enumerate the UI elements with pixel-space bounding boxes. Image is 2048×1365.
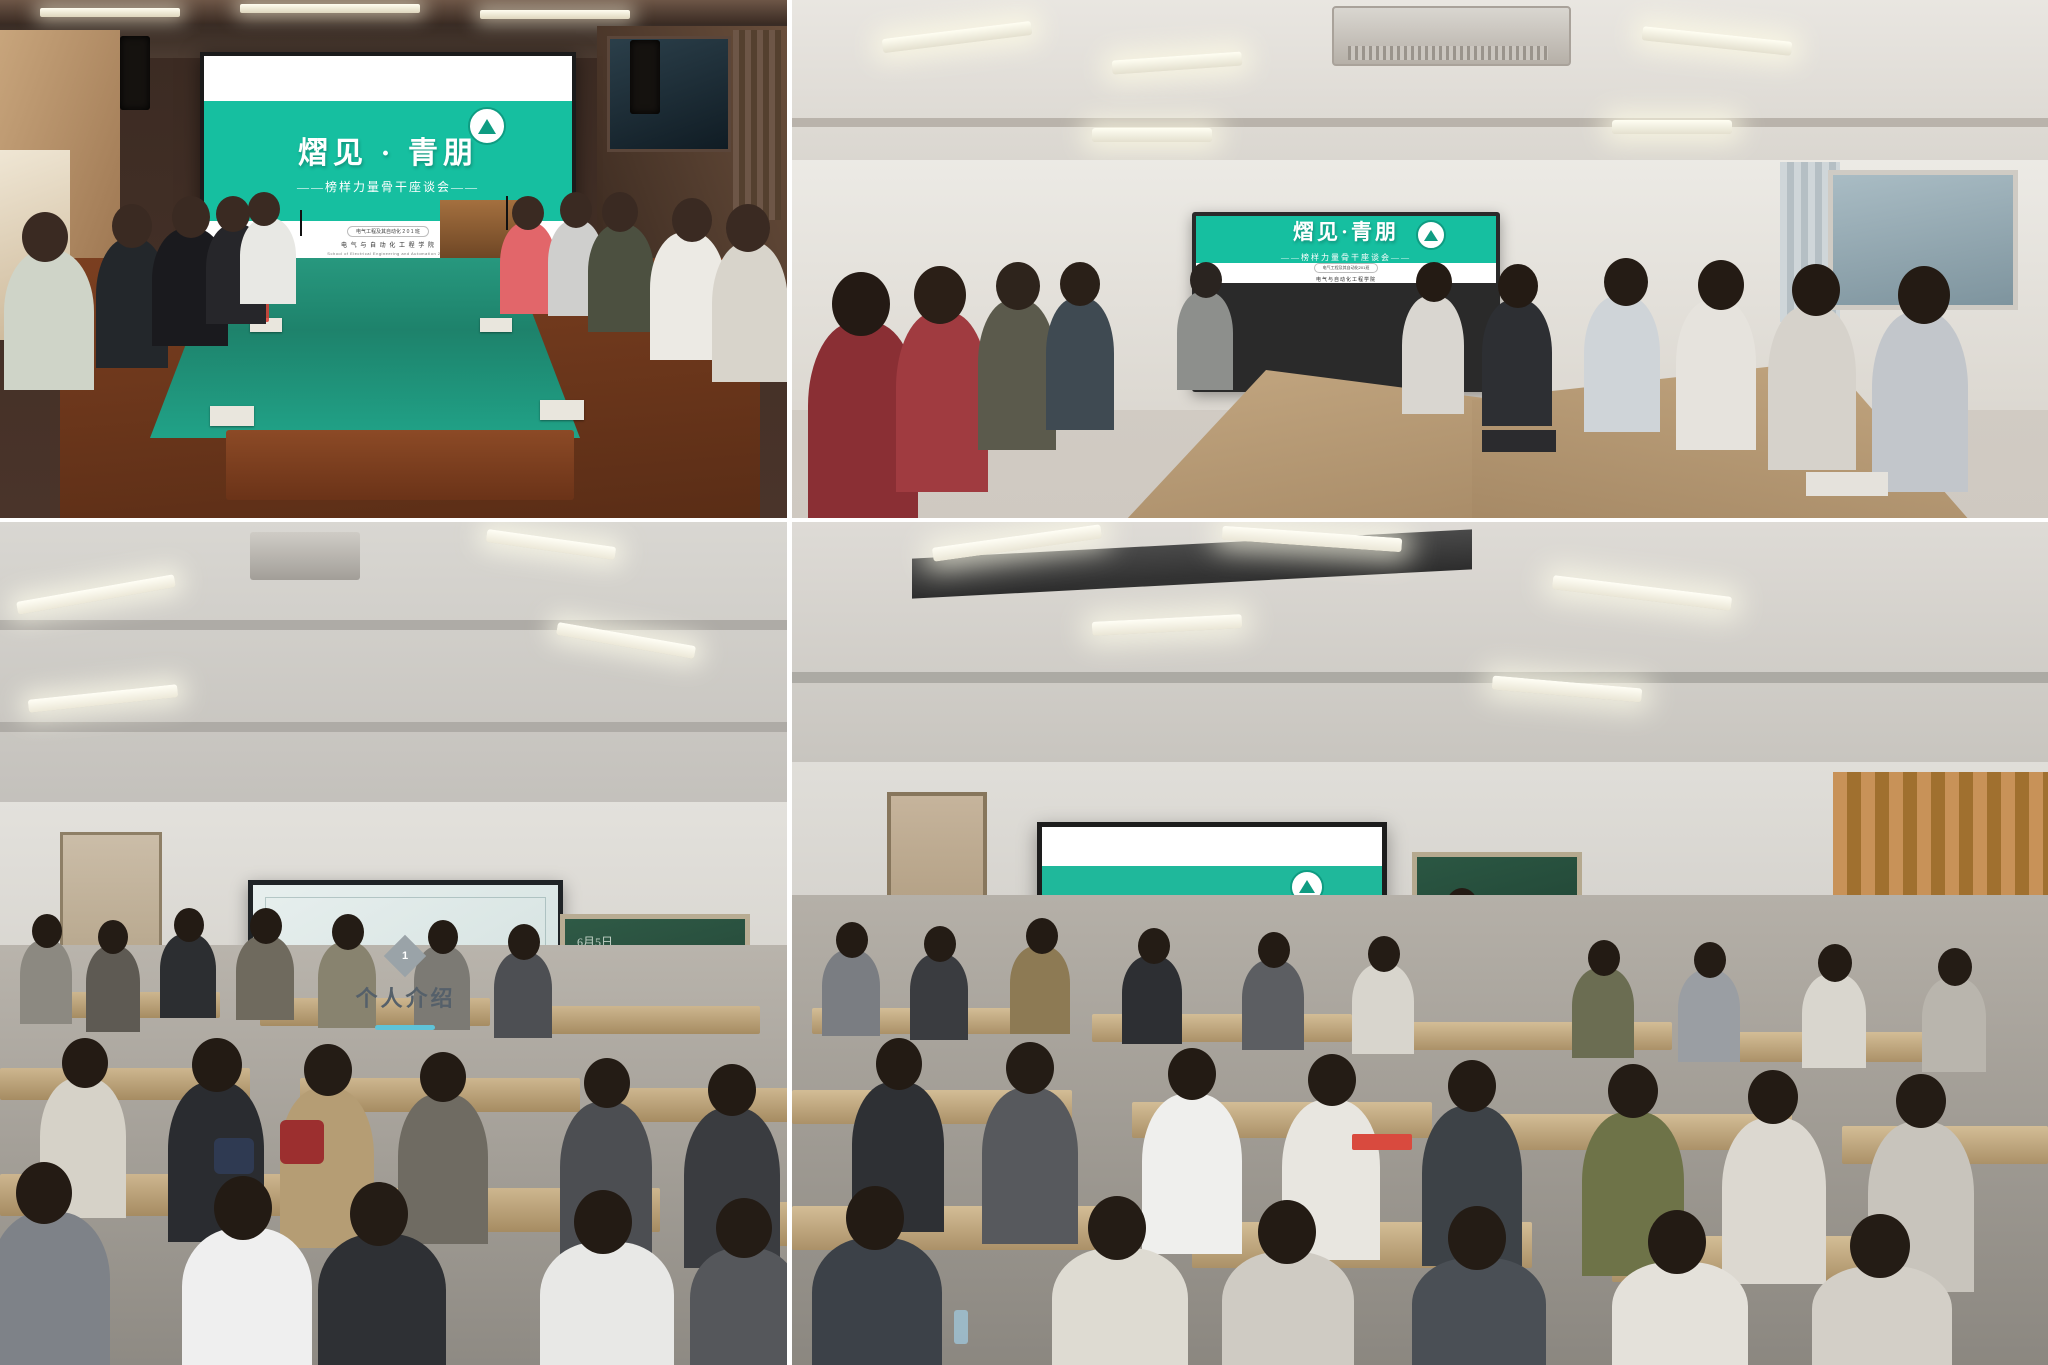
student: [86, 946, 140, 1032]
student: [1412, 1258, 1546, 1365]
student-head: [876, 1038, 922, 1090]
student-head: [1258, 1200, 1316, 1264]
student: [236, 936, 294, 1020]
student-head: [350, 1182, 408, 1246]
attendee-head: [112, 204, 152, 248]
slide-department-cn: 电 气 与 自 动 化 工 程 学 院: [341, 240, 435, 249]
backpack: [280, 1120, 324, 1164]
attendee: [1482, 300, 1552, 426]
student: [1352, 964, 1414, 1054]
paper-document: [540, 400, 584, 420]
student-head: [1368, 936, 1400, 972]
student: [690, 1248, 787, 1365]
attendee: [1584, 296, 1660, 432]
attendee-head: [248, 192, 280, 226]
student-head: [192, 1038, 242, 1092]
ceiling-beam: [792, 118, 2048, 127]
student-head: [1588, 940, 1620, 976]
presenter: [1177, 292, 1233, 390]
student: [910, 954, 968, 1040]
student-head: [62, 1038, 108, 1088]
student: [1052, 1248, 1188, 1365]
slide-department-en: School of Electrical Engineering and Aut…: [327, 251, 448, 256]
student-head: [708, 1064, 756, 1116]
speaker-box: [120, 36, 150, 110]
attendee: [712, 242, 787, 382]
attendee: [1046, 298, 1114, 430]
attendee: [588, 224, 654, 332]
slide-department-cn: 电气与自动化工程学院: [1316, 276, 1376, 283]
student-head: [1138, 928, 1170, 964]
student: [1572, 968, 1634, 1058]
student-head: [1818, 944, 1852, 982]
student-head: [1648, 1210, 1706, 1274]
student: [1142, 1094, 1242, 1254]
student: [812, 1238, 942, 1365]
student: [1222, 1252, 1354, 1365]
laptop: [1482, 430, 1556, 452]
attendee: [1676, 300, 1756, 450]
attendee-head: [996, 262, 1040, 310]
attendee: [896, 312, 988, 492]
attendee-head: [602, 192, 638, 232]
attendee-head: [216, 196, 250, 232]
attendee-head: [832, 272, 890, 336]
student-head: [1850, 1214, 1910, 1278]
attendee-head: [726, 204, 770, 252]
ceiling-beam: [0, 620, 787, 630]
attendee-head: [672, 198, 712, 242]
student-desk: [520, 1006, 760, 1034]
attendee-head: [1416, 262, 1452, 302]
microphone: [300, 210, 302, 236]
photo-panel-top-left: 熠见 · 青朋 ——榜样力量骨干座谈会—— 电气工程及其自动化 2 0 1 班 …: [0, 0, 787, 518]
ceiling: [0, 522, 787, 822]
photo-panel-bottom-left: 1 个人介绍 政治面貌：中共党员 籍贯：陕西西安 Slideshow Revie…: [0, 522, 787, 1365]
student: [398, 1094, 488, 1244]
attendee-head: [1898, 266, 1950, 324]
attendee-head: [1698, 260, 1744, 310]
paper-document: [210, 406, 254, 426]
slide-green-band: 熠见·青朋 ——榜样力量骨干座谈会——: [1196, 216, 1496, 263]
student-head: [1448, 1206, 1506, 1270]
photo-collage: 熠见 · 青朋 ——榜样力量骨干座谈会—— 电气工程及其自动化 2 0 1 班 …: [0, 0, 2048, 1365]
student: [1812, 1266, 1952, 1365]
slide-number-badge: 1: [384, 934, 426, 976]
student-head: [1258, 932, 1290, 968]
emblem-triangle: [478, 119, 496, 134]
student-head: [1088, 1196, 1146, 1260]
paper-document: [480, 318, 512, 332]
student-head: [574, 1190, 632, 1254]
student-head: [174, 908, 204, 942]
ceiling-light: [40, 8, 180, 17]
attendee-head: [172, 196, 210, 238]
student: [20, 940, 72, 1024]
student: [1722, 1118, 1826, 1284]
attendee-head: [1498, 264, 1538, 308]
attendee: [978, 300, 1056, 450]
student-head: [1608, 1064, 1658, 1118]
slide-title-card: 熠见·青朋 ——榜样力量骨干座谈会—— 电气工程及其自动化201班 电气与自动化…: [1196, 216, 1496, 283]
attendee: [4, 250, 94, 390]
university-emblem-icon: [468, 107, 506, 145]
student: [1922, 978, 1986, 1072]
ceiling-light: [1612, 120, 1732, 134]
student: [1010, 946, 1070, 1034]
notebook: [1352, 1134, 1412, 1150]
student-head: [716, 1198, 772, 1258]
university-emblem-icon: [1416, 220, 1446, 250]
slide-top-band: [1042, 827, 1382, 866]
attendee: [1768, 306, 1856, 470]
student-head: [420, 1052, 466, 1102]
student-head: [1006, 1042, 1054, 1094]
student: [540, 1242, 674, 1365]
student-head: [214, 1176, 272, 1240]
student: [182, 1228, 312, 1365]
ceiling-light: [480, 10, 630, 19]
emblem-triangle: [1299, 880, 1315, 893]
attendee: [1872, 312, 1968, 492]
student-head: [16, 1162, 72, 1224]
slide-subtitle: ——榜样力量骨干座谈会——: [1281, 252, 1411, 263]
presenter-head: [1190, 262, 1222, 298]
student: [1612, 1262, 1748, 1365]
student-head: [1938, 948, 1972, 986]
photo-panel-bottom-right: 熠见·青朋 ——榜样力量骨干座谈会—— 电气工程及其自动化201班 电气与自动化…: [792, 522, 2048, 1365]
speaker-box: [630, 40, 660, 114]
student: [494, 952, 552, 1038]
student: [982, 1088, 1078, 1244]
microphone: [506, 196, 508, 230]
attendee: [1402, 296, 1464, 414]
slide-class-pill: 电气工程及其自动化 2 0 1 班: [347, 226, 429, 237]
ceiling-projector: [250, 532, 360, 580]
attendee-head: [1060, 262, 1100, 306]
student-head: [836, 922, 868, 958]
window: [607, 36, 731, 152]
slide-number: 1: [402, 950, 408, 962]
student-head: [1694, 942, 1726, 978]
attendee: [240, 218, 296, 304]
student-head: [98, 920, 128, 954]
table-front-edge: [226, 430, 574, 500]
backpack: [214, 1138, 254, 1174]
student-head: [250, 908, 282, 944]
slide-title: 熠见·青朋: [1293, 216, 1399, 246]
attendee-head: [1792, 264, 1840, 316]
ceiling-beam: [0, 722, 787, 732]
ceiling-beam: [792, 672, 2048, 683]
air-conditioner-vent: [1348, 46, 1548, 60]
student: [1802, 974, 1866, 1068]
slide-title: 个人介绍: [355, 981, 455, 1013]
student-head: [846, 1186, 904, 1250]
student-head: [584, 1058, 630, 1108]
student: [318, 1234, 446, 1365]
slide-class-pill: 电气工程及其自动化201班: [1314, 263, 1379, 273]
attendee-head: [914, 266, 966, 324]
attendee-head: [22, 212, 68, 262]
student-head: [924, 926, 956, 962]
slide-underline: [375, 1025, 435, 1030]
student-head: [1168, 1048, 1216, 1100]
attendee-head: [560, 192, 592, 228]
curtain: [733, 30, 781, 220]
laptop: [1806, 472, 1888, 496]
student-head: [1448, 1060, 1496, 1112]
student: [1122, 956, 1182, 1044]
attendee-head: [512, 196, 544, 230]
student-head: [32, 914, 62, 948]
attendee-head: [1604, 258, 1648, 306]
student-head: [508, 924, 540, 960]
student: [0, 1212, 110, 1365]
student: [1678, 970, 1740, 1062]
student-head: [1896, 1074, 1946, 1128]
student-head: [1026, 918, 1058, 954]
slide-top-band: [204, 56, 572, 101]
slide-title: 熠见 · 青朋: [298, 128, 478, 172]
student: [160, 934, 216, 1018]
student-head: [1748, 1070, 1798, 1124]
photo-panel-top-right: 熠见·青朋 ——榜样力量骨干座谈会—— 电气工程及其自动化201班 电气与自动化…: [792, 0, 2048, 518]
student: [822, 950, 880, 1036]
ceiling-light: [1092, 128, 1212, 142]
student: [1242, 960, 1304, 1050]
student-head: [304, 1044, 352, 1096]
slide-subtitle: ——榜样力量骨干座谈会——: [297, 178, 479, 195]
emblem-triangle: [1424, 230, 1438, 241]
water-bottle: [954, 1310, 968, 1344]
ceiling-light: [240, 4, 420, 13]
student-head: [1308, 1054, 1356, 1106]
